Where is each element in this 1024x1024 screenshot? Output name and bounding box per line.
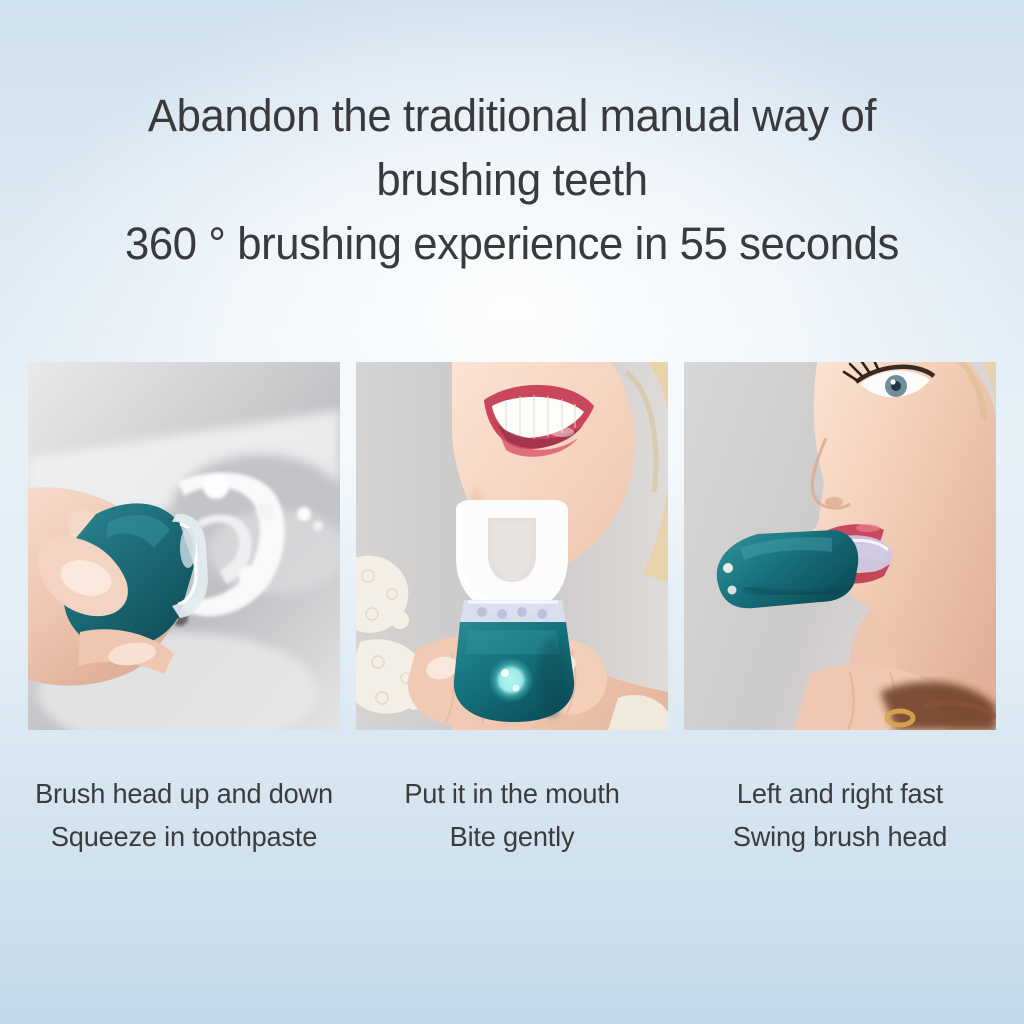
- caption-step-3-line-1: Left and right fast: [689, 772, 992, 815]
- headline-line-2: brushing teeth: [15, 148, 1008, 212]
- caption-step-3: Left and right fast Swing brush head: [689, 772, 992, 858]
- caption-step-2: Put it in the mouth Bite gently: [361, 772, 664, 858]
- infographic-page: Abandon the traditional manual way of br…: [0, 0, 1024, 1024]
- caption-step-2-line-1: Put it in the mouth: [361, 772, 664, 815]
- page-title: Abandon the traditional manual way of br…: [15, 84, 1008, 276]
- photo-swing-brush-head: [684, 362, 996, 730]
- step-caption-row: Brush head up and down Squeeze in toothp…: [28, 772, 996, 858]
- caption-step-1: Brush head up and down Squeeze in toothp…: [33, 772, 336, 858]
- step-photo-row: [28, 362, 996, 730]
- headline-line-1: Abandon the traditional manual way of: [15, 84, 1008, 148]
- caption-step-2-line-2: Bite gently: [361, 815, 664, 858]
- headline-line-3: 360 ° brushing experience in 55 seconds: [15, 212, 1008, 276]
- photo-squeeze-toothpaste: [28, 362, 340, 730]
- caption-step-1-line-1: Brush head up and down: [33, 772, 336, 815]
- photo-insert-in-mouth: [356, 362, 668, 730]
- caption-step-3-line-2: Swing brush head: [689, 815, 992, 858]
- caption-step-1-line-2: Squeeze in toothpaste: [33, 815, 336, 858]
